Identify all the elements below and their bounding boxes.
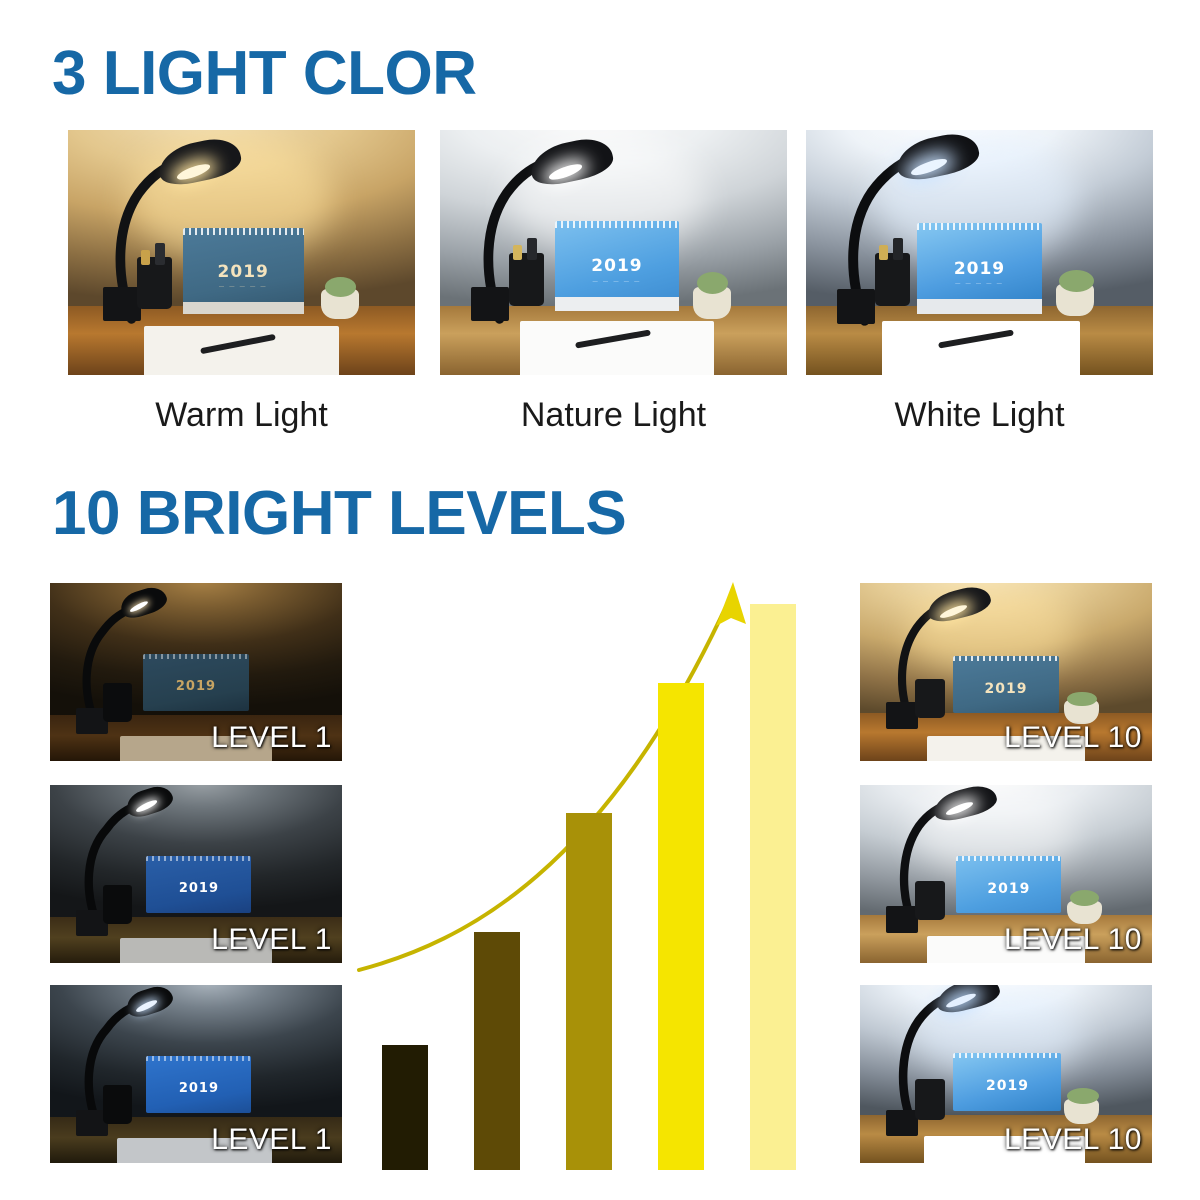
notebook-warm bbox=[144, 326, 338, 375]
calendar: 2019 bbox=[956, 856, 1061, 913]
calendar: 2019 bbox=[146, 856, 251, 913]
bar-level-4 bbox=[658, 683, 704, 1170]
page-title-light-color: 3 LIGHT CLOR bbox=[52, 38, 477, 109]
bar-level-3 bbox=[566, 813, 612, 1170]
pen-dark bbox=[893, 238, 903, 260]
pen-holder bbox=[915, 679, 944, 718]
calendar-rings bbox=[917, 223, 1042, 230]
calendar-year: 2019 bbox=[146, 881, 251, 896]
level-label: LEVEL 1 bbox=[211, 721, 332, 755]
level-label: LEVEL 10 bbox=[1004, 923, 1142, 957]
plant-leaves-nature bbox=[697, 272, 728, 294]
lamp-clip bbox=[886, 1110, 918, 1137]
calendar-rings bbox=[183, 228, 304, 235]
thumbnail-level10-white: 2019 LEVEL 10 bbox=[860, 985, 1152, 1163]
lamp-clip-white bbox=[837, 289, 875, 323]
infographic-page: 3 LIGHT CLOR 2019 — — — — — bbox=[0, 0, 1200, 1200]
calendar-white: 2019 — — — — — bbox=[917, 223, 1042, 304]
pen-holder-white bbox=[875, 253, 910, 307]
calendar-base-warm bbox=[183, 302, 304, 314]
calendar-base-white bbox=[917, 299, 1042, 314]
pen-holder bbox=[103, 683, 132, 722]
calendar-rings bbox=[555, 221, 680, 228]
lamp-clip-warm bbox=[103, 287, 141, 321]
caption-warm-light: Warm Light bbox=[68, 396, 415, 435]
bar-level-2 bbox=[474, 932, 520, 1170]
plant-leaves-white bbox=[1059, 270, 1094, 292]
lamp-clip-nature bbox=[471, 287, 509, 321]
calendar-rings bbox=[146, 856, 251, 861]
notebook-nature bbox=[520, 321, 714, 375]
calendar-year: 2019 bbox=[956, 881, 1061, 897]
pen-gold bbox=[879, 245, 888, 260]
pen-holder-nature bbox=[509, 253, 544, 307]
calendar-base-nature bbox=[555, 297, 680, 312]
pen-holder bbox=[915, 1079, 944, 1120]
calendar: 2019 bbox=[146, 1056, 251, 1113]
pen-holder-warm bbox=[137, 257, 172, 308]
thumbnail-level1-white: 2019 LEVEL 1 bbox=[50, 985, 342, 1163]
calendar: 2019 bbox=[953, 1053, 1061, 1112]
pen-holder bbox=[915, 881, 944, 920]
calendar-rings bbox=[953, 656, 1058, 661]
thumbnail-level1-warm: 2019 LEVEL 1 bbox=[50, 583, 342, 761]
thumbnail-level10-warm: 2019 LEVEL 10 bbox=[860, 583, 1152, 761]
pen-holder bbox=[103, 1085, 132, 1124]
plant-leaves bbox=[1067, 692, 1096, 706]
calendar-year: 2019 bbox=[146, 1081, 251, 1096]
calendar-subtext: — — — — — bbox=[917, 281, 1042, 287]
caption-white-light: White Light bbox=[806, 396, 1153, 435]
calendar-subtext: — — — — — bbox=[183, 284, 304, 290]
thumbnail-level10-nature: 2019 LEVEL 10 bbox=[860, 785, 1152, 963]
pen-gold bbox=[513, 245, 522, 260]
calendar: 2019 bbox=[143, 654, 248, 711]
level-label: LEVEL 1 bbox=[211, 1123, 332, 1157]
notebook-white bbox=[882, 321, 1080, 375]
bar-level-1 bbox=[382, 1045, 428, 1170]
calendar-rings bbox=[146, 1056, 251, 1061]
calendar-year: 2019 bbox=[555, 256, 680, 276]
caption-nature-light: Nature Light bbox=[440, 396, 787, 435]
calendar-year: 2019 bbox=[183, 262, 304, 282]
page-title-bright-levels: 10 BRIGHT LEVELS bbox=[52, 478, 626, 549]
calendar-year: 2019 bbox=[953, 1078, 1061, 1094]
lamp-clip bbox=[886, 702, 918, 729]
plant-leaves-warm bbox=[325, 277, 356, 297]
pen-dark bbox=[155, 243, 165, 265]
calendar-warm: 2019 — — — — — bbox=[183, 228, 304, 306]
brightness-bar-chart bbox=[355, 570, 815, 1170]
calendar-subtext: — — — — — bbox=[555, 279, 680, 285]
thumbnail-level1-nature: 2019 LEVEL 1 bbox=[50, 785, 342, 963]
bar-level-5 bbox=[750, 604, 796, 1170]
calendar: 2019 bbox=[953, 656, 1058, 713]
calendar-year: 2019 bbox=[143, 679, 248, 694]
calendar-year: 2019 bbox=[917, 259, 1042, 279]
calendar-rings bbox=[953, 1053, 1061, 1058]
calendar-rings bbox=[143, 654, 248, 659]
calendar-year: 2019 bbox=[953, 681, 1058, 697]
calendar-nature: 2019 — — — — — bbox=[555, 221, 680, 302]
pen-dark bbox=[527, 238, 537, 260]
lamp-clip bbox=[886, 906, 918, 933]
photo-warm-light: 2019 — — — — — bbox=[68, 130, 415, 375]
calendar-rings bbox=[956, 856, 1061, 861]
level-label: LEVEL 10 bbox=[1004, 721, 1142, 755]
photo-white-light: 2019 — — — — — bbox=[806, 130, 1153, 375]
pen-holder bbox=[103, 885, 132, 924]
level-label: LEVEL 10 bbox=[1004, 1123, 1142, 1157]
photo-nature-light: 2019 — — — — — bbox=[440, 130, 787, 375]
pen-gold bbox=[141, 250, 150, 265]
level-label: LEVEL 1 bbox=[211, 923, 332, 957]
